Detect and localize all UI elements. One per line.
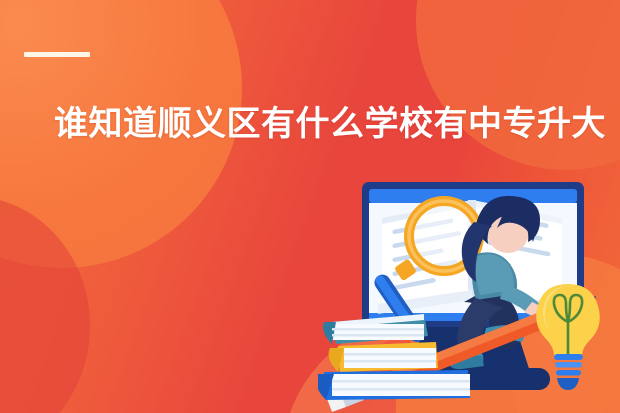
accent-rule	[24, 52, 90, 57]
banner-title: 谁知道顺义区有什么学校有中专升大	[54, 104, 614, 144]
background-blob-left-lower	[0, 196, 90, 413]
background-blob-right-top	[416, 0, 620, 170]
promo-banner: 谁知道顺义区有什么学校有中专升大	[0, 0, 620, 413]
online-learning-illustration	[318, 172, 620, 413]
